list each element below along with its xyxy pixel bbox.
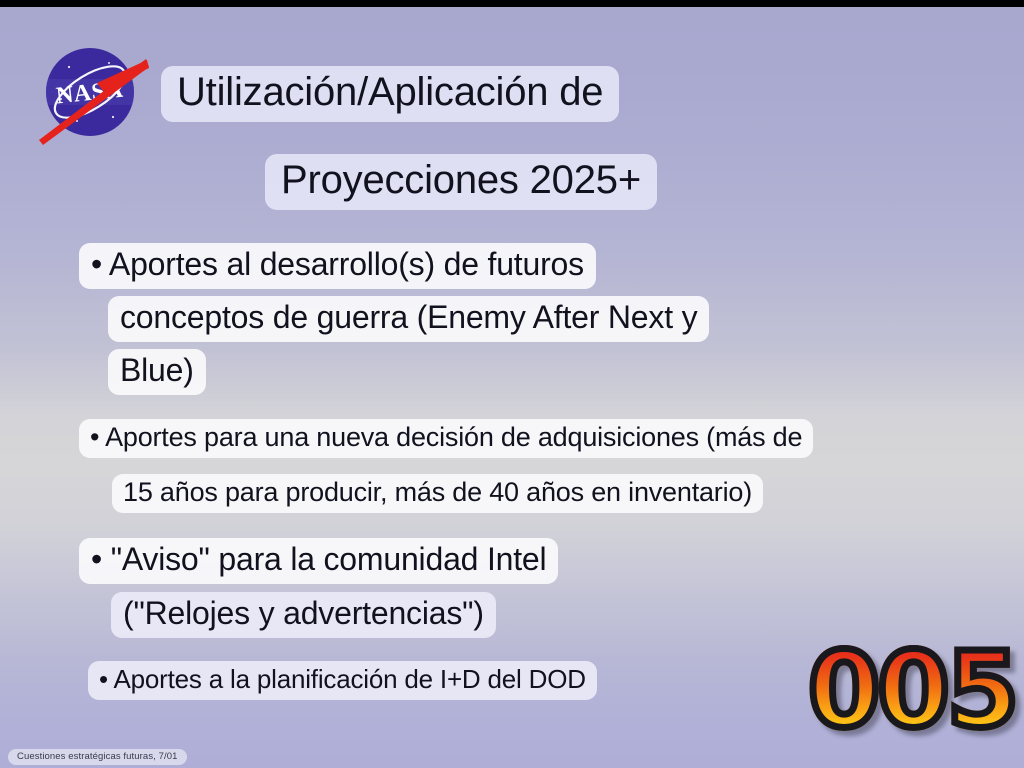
bullet-4-line-1: • Aportes a la planificación de I+D del …	[88, 661, 597, 700]
letterbox-bar-top	[0, 0, 1024, 7]
bullet-2-line-2: 15 años para producir, más de 40 años en…	[112, 474, 763, 513]
bullet-3-line-1: • "Aviso" para la comunidad Intel	[79, 538, 558, 584]
nasa-logo: NASA	[33, 37, 151, 147]
slide-title-line-2: Proyecciones 2025+	[265, 154, 657, 210]
bullet-1-line-1: • Aportes al desarrollo(s) de futuros	[79, 243, 596, 289]
footer-label: Cuestiones estratégicas futuras, 7/01	[8, 749, 187, 765]
slide-title-line-1: Utilización/Aplicación de	[161, 66, 619, 122]
bullet-2-line-1: • Aportes para una nueva decisión de adq…	[79, 419, 813, 458]
bullet-3-line-2: ("Relojes y advertencias")	[111, 592, 496, 638]
bullet-1-line-3: Blue)	[108, 349, 206, 395]
bullet-1-line-2: conceptos de guerra (Enemy After Next y	[108, 296, 709, 342]
slide-canvas: NASA Utilización/Aplicación de Proyeccio…	[0, 0, 1024, 768]
page-number: 005	[808, 638, 1016, 742]
